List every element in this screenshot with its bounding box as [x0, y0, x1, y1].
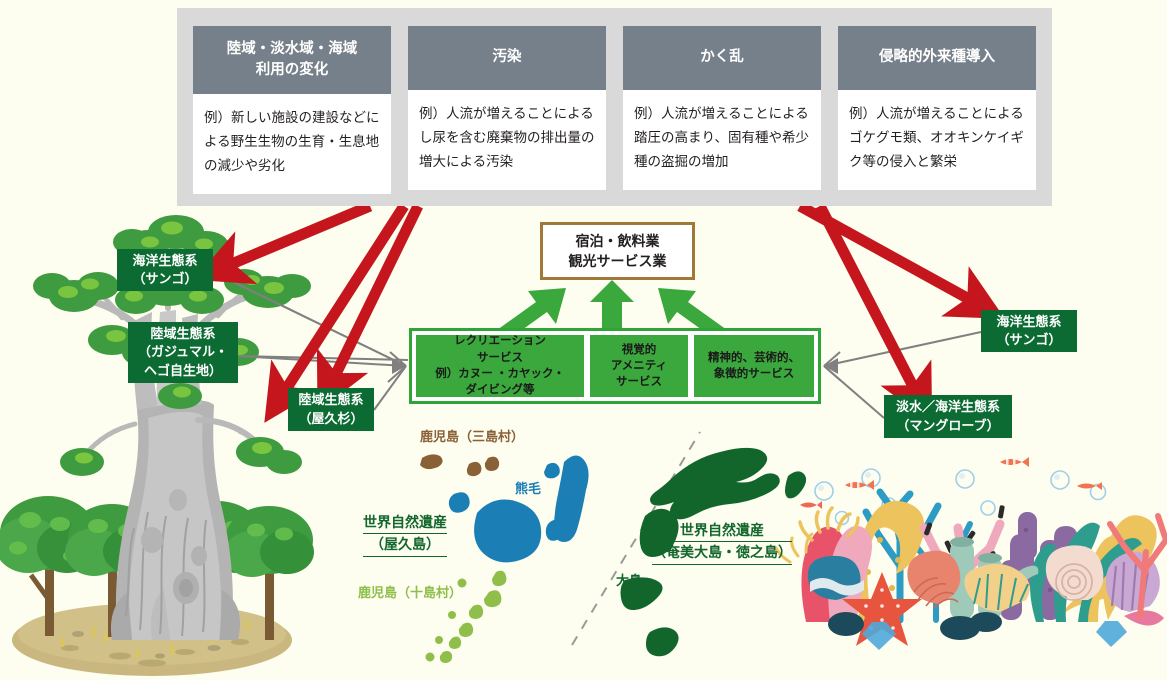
ecosystem-services-group: レクリエーションサービス例）カヌー ・カヤック・ダイビング等 視覚的アメニティサ… [409, 328, 821, 404]
pressure-card-title: 汚染 [408, 26, 606, 90]
map-label-mishima: 鹿児島（三島村） [420, 426, 524, 445]
pressure-card-land-use[interactable]: 陸域・淡水域・海域利用の変化 例）新しい施設の建設などによる野生生物の生育・生息… [193, 26, 391, 194]
heritage-amami-line1: 世界自然遺産 [652, 520, 792, 542]
islands-mishima [420, 454, 499, 476]
pressure-band: 陸域・淡水域・海域利用の変化 例）新しい施設の建設などによる野生生物の生育・生息… [177, 8, 1052, 206]
pressure-card-invasive-species[interactable]: 侵略的外来種導入 例）人流が増えることによるゴケグモ類、オオキンケイギク等の侵入… [838, 26, 1036, 190]
service-box-amenity[interactable]: 視覚的アメニティサービス [590, 335, 688, 397]
map-label-heritage-amami: 世界自然遺産 （奄美大島・徳之島） [652, 520, 792, 565]
coral-reef-illustration [776, 457, 1167, 650]
pressure-card-body: 例）新しい施設の建設などによる野生生物の生育・生息地の減少や劣化 [193, 94, 391, 194]
pressure-card-title: 陸域・淡水域・海域利用の変化 [193, 26, 391, 94]
service-box-recreation[interactable]: レクリエーションサービス例）カヌー ・カヤック・ダイビング等 [416, 335, 584, 397]
spiral-shell [1046, 545, 1104, 600]
tourism-industry-box[interactable]: 宿泊・飲料業観光サービス業 [540, 222, 695, 280]
ecosystem-chip-coral-left[interactable]: 海洋生態系（サンゴ） [117, 249, 213, 291]
service-box-symbolic[interactable]: 精神的、芸術的、象徴的サービス [694, 335, 814, 397]
map-label-toshima: 鹿児島（十島村） [358, 582, 462, 601]
fish-group [800, 457, 1102, 509]
pressure-card-title: かく乱 [623, 26, 821, 90]
small-tree-group [0, 496, 314, 640]
nautilus-shell [907, 551, 960, 608]
pressure-card-body: 例）人流が増えることによるし尿を含む廃棄物の排出量の増大による汚染 [408, 90, 606, 190]
starfish [842, 572, 922, 646]
pressure-card-body: 例）人流が増えることによるゴケグモ類、オオキンケイギク等の侵入と繁栄 [838, 90, 1036, 190]
ecosystem-chip-mangrove[interactable]: 淡水／海洋生態系（マングローブ） [884, 395, 1012, 438]
map-label-heritage-yakushima: 世界自然遺産 （屋久島） [363, 512, 447, 557]
heritage-yakushima-line2: （屋久島） [363, 534, 447, 556]
pressure-card-disturbance[interactable]: かく乱 例）人流が増えることによる踏圧の高まり、固有種や希少種の盗掘の増加 [623, 26, 821, 190]
heritage-amami-line2: （奄美大島・徳之島） [652, 542, 792, 564]
ecosystem-chip-gajumaru[interactable]: 陸域生態系（ガジュマル・ヘゴ自生地） [128, 322, 238, 383]
scallop-shell [964, 564, 1029, 612]
ecosystem-chip-coral-right[interactable]: 海洋生態系（サンゴ） [981, 310, 1077, 352]
map-label-oshima: 大島 [616, 570, 642, 589]
islands-kumage [449, 455, 589, 562]
pressure-card-title: 侵略的外来種導入 [838, 26, 1036, 90]
heritage-yakushima-line1: 世界自然遺産 [363, 512, 447, 534]
pressure-card-body: 例）人流が増えることによる踏圧の高まり、固有種や希少種の盗掘の増加 [623, 90, 821, 190]
map-label-kumage: 熊毛 [515, 478, 541, 497]
diagram-stage: 陸域・淡水域・海域利用の変化 例）新しい施設の建設などによる野生生物の生育・生息… [0, 0, 1167, 680]
pressure-card-pollution[interactable]: 汚染 例）人流が増えることによるし尿を含む廃棄物の排出量の増大による汚染 [408, 26, 606, 190]
ecosystem-chip-yakusugi[interactable]: 陸域生態系（屋久杉） [288, 388, 374, 431]
